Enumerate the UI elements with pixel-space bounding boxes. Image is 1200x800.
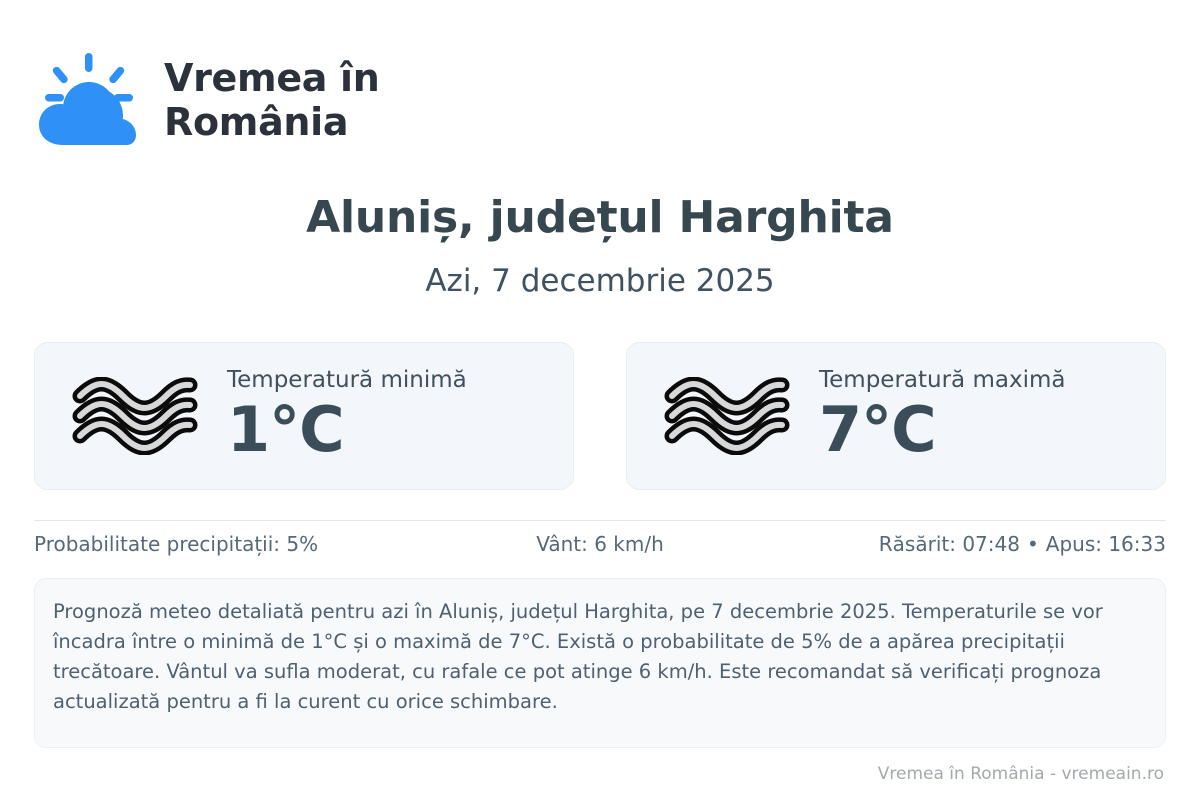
sun-behind-cloud-icon: [36, 50, 142, 150]
stats-row: Probabilitate precipitații: 5% Vânt: 6 k…: [34, 532, 1166, 556]
temperature-min-card: Temperatură minimă 1°C: [34, 342, 574, 490]
page-title: Aluniș, județul Harghita: [0, 192, 1200, 243]
forecast-description-text: Prognoză meteo detaliată pentru azi în A…: [53, 597, 1145, 717]
weather-page: Vremea în România Aluniș, județul Harghi…: [0, 0, 1200, 800]
mist-waves-icon: [69, 377, 201, 455]
temperature-min-body: Temperatură minimă 1°C: [227, 368, 467, 465]
temperature-max-card: Temperatură maximă 7°C: [626, 342, 1166, 490]
temperature-min-label: Temperatură minimă: [227, 368, 467, 393]
sun-times-stat: Răsărit: 07:48•Apus: 16:33: [789, 532, 1166, 556]
stats-divider: [34, 520, 1166, 521]
wind-stat: Vânt: 6 km/h: [411, 532, 788, 556]
forecast-description-box: Prognoză meteo detaliată pentru azi în A…: [34, 578, 1166, 748]
mist-waves-icon: [661, 377, 793, 455]
sunrise-value: Răsărit: 07:48: [879, 532, 1020, 556]
brand-name: Vremea în România: [164, 56, 380, 144]
sunset-value: Apus: 16:33: [1046, 532, 1166, 556]
page-subtitle: Azi, 7 decembrie 2025: [0, 263, 1200, 299]
temperature-cards: Temperatură minimă 1°C Temperatură maxim…: [34, 342, 1166, 490]
temperature-max-body: Temperatură maximă 7°C: [819, 368, 1065, 465]
temperature-max-label: Temperatură maximă: [819, 368, 1065, 393]
temperature-min-value: 1°C: [227, 395, 467, 464]
footer-credit: Vremea în România - vremeain.ro: [878, 764, 1164, 784]
brand-logo[interactable]: Vremea în România: [36, 50, 380, 150]
stat-separator: •: [1020, 532, 1046, 556]
temperature-max-value: 7°C: [819, 395, 1065, 464]
precipitation-stat: Probabilitate precipitații: 5%: [34, 532, 411, 556]
